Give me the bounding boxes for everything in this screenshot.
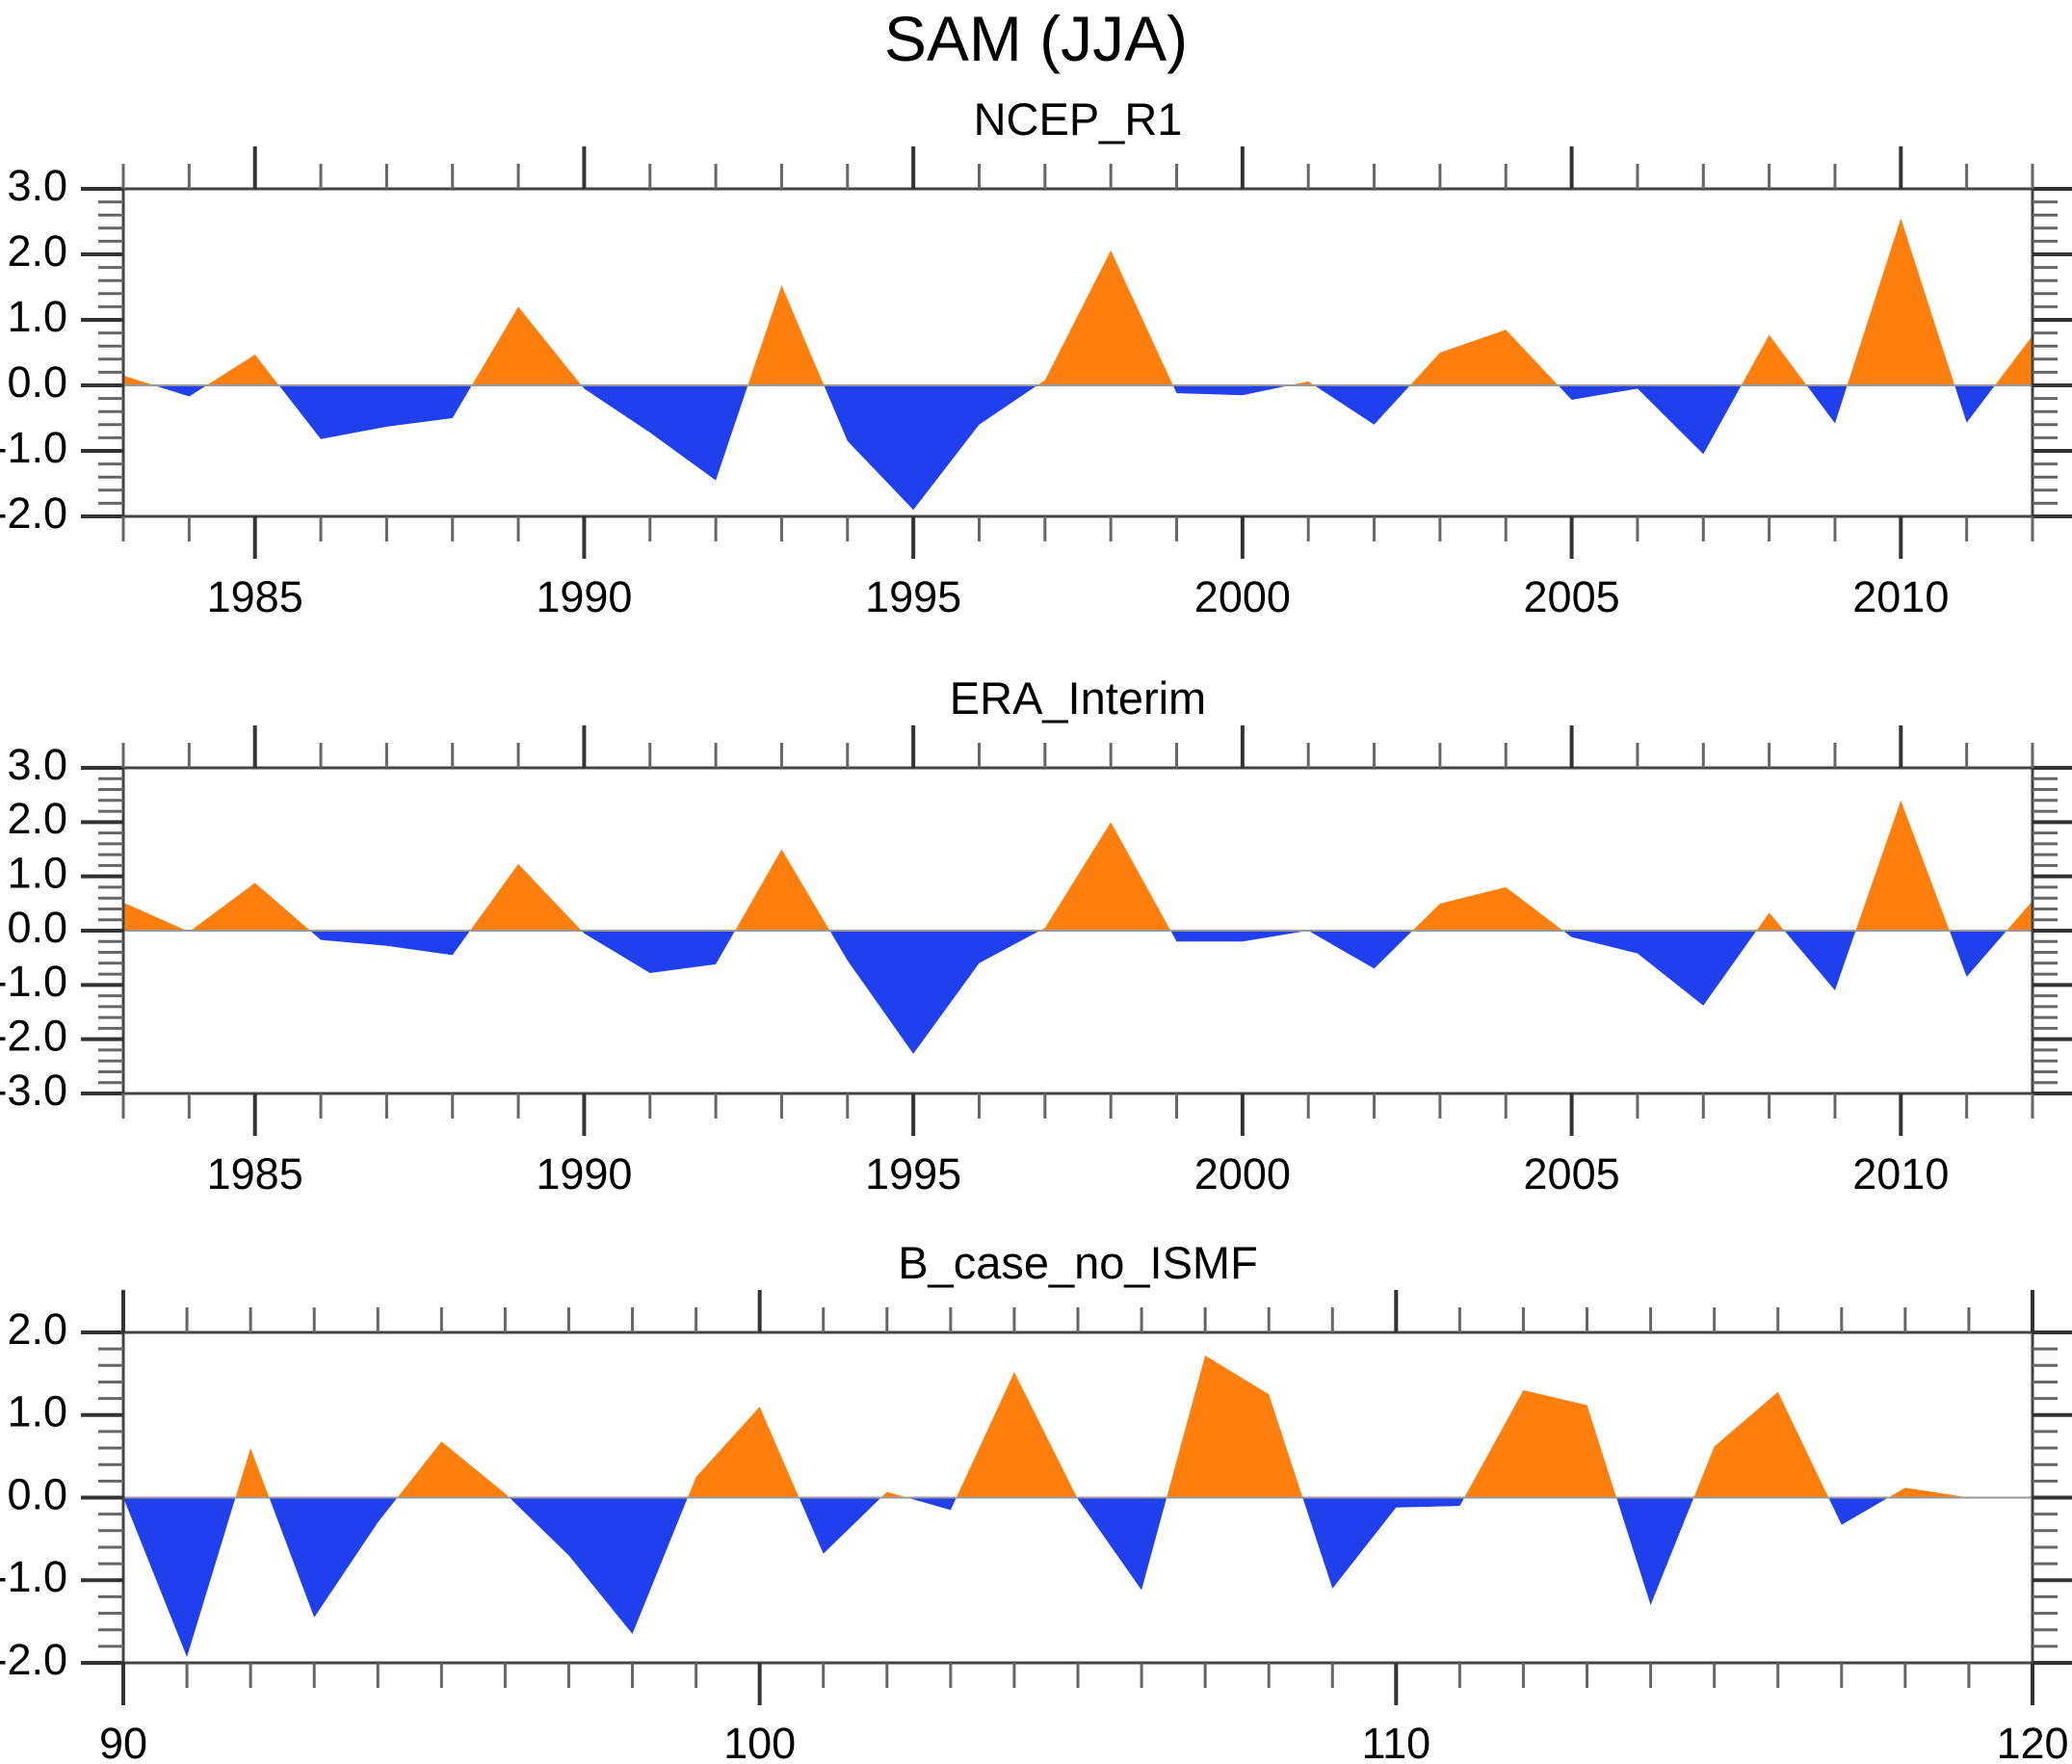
y-tick-label: 2.0: [7, 1304, 67, 1354]
y-tick-label: -2.0: [0, 1635, 67, 1684]
panel-2: 2.01.00.0-1.0-2.090100110120: [0, 1290, 2072, 1764]
x-tick-label: 2000: [1194, 572, 1291, 621]
panel-title-ncep: NCEP_R1: [123, 92, 2033, 145]
y-tick-label: -1.0: [0, 423, 67, 472]
y-tick-label: 3.0: [7, 740, 67, 789]
panel-0: 3.02.01.00.0-1.0-2.019851990199520002005…: [0, 146, 2072, 621]
chart-canvas: 3.02.01.00.0-1.0-2.019851990199520002005…: [0, 0, 2072, 1764]
y-tick-label: 0.0: [7, 357, 67, 407]
y-tick-label: 2.0: [7, 226, 67, 276]
negative-area: [123, 1356, 2033, 1657]
x-tick-label: 2010: [1852, 1149, 1949, 1198]
y-tick-label: 0.0: [7, 903, 67, 952]
y-tick-label: -2.0: [0, 488, 67, 538]
x-tick-label: 2000: [1194, 1149, 1291, 1198]
x-tick-label: 120: [1996, 1719, 2068, 1764]
y-tick-label: 0.0: [7, 1469, 67, 1518]
y-tick-label: 2.0: [7, 794, 67, 843]
panel-title-era: ERA_Interim: [123, 671, 2033, 724]
x-tick-label: 2010: [1852, 572, 1949, 621]
y-tick-label: -3.0: [0, 1066, 67, 1115]
y-tick-label: 1.0: [7, 1387, 67, 1436]
y-tick-label: -1.0: [0, 1552, 67, 1601]
x-tick-label: 110: [1361, 1719, 1430, 1764]
x-tick-label: 100: [723, 1719, 796, 1764]
positive-area: [123, 1356, 2033, 1657]
positive-area: [123, 801, 2033, 1054]
panel-title-bcase: B_case_no_ISMF: [123, 1236, 2033, 1289]
figure-root: SAM (JJA) NCEP_R1 ERA_Interim B_case_no_…: [0, 0, 2072, 1764]
x-tick-label: 1990: [536, 1149, 632, 1198]
x-tick-label: 2005: [1524, 1149, 1620, 1198]
y-tick-label: 1.0: [7, 292, 67, 341]
y-tick-label: -2.0: [0, 1012, 67, 1061]
x-tick-label: 1985: [207, 572, 303, 621]
x-tick-label: 90: [99, 1719, 147, 1764]
x-tick-label: 1995: [865, 1149, 961, 1198]
x-tick-label: 1990: [536, 572, 632, 621]
y-tick-label: -1.0: [0, 957, 67, 1006]
y-tick-label: 1.0: [7, 849, 67, 898]
page-title: SAM (JJA): [0, 2, 2072, 75]
positive-area: [123, 219, 2033, 511]
x-tick-label: 1995: [865, 572, 961, 621]
panel-1: 3.02.01.00.0-1.0-2.0-3.01985199019952000…: [0, 725, 2072, 1198]
x-tick-label: 2005: [1524, 572, 1620, 621]
x-tick-label: 1985: [207, 1149, 303, 1198]
y-tick-label: 3.0: [7, 161, 67, 210]
